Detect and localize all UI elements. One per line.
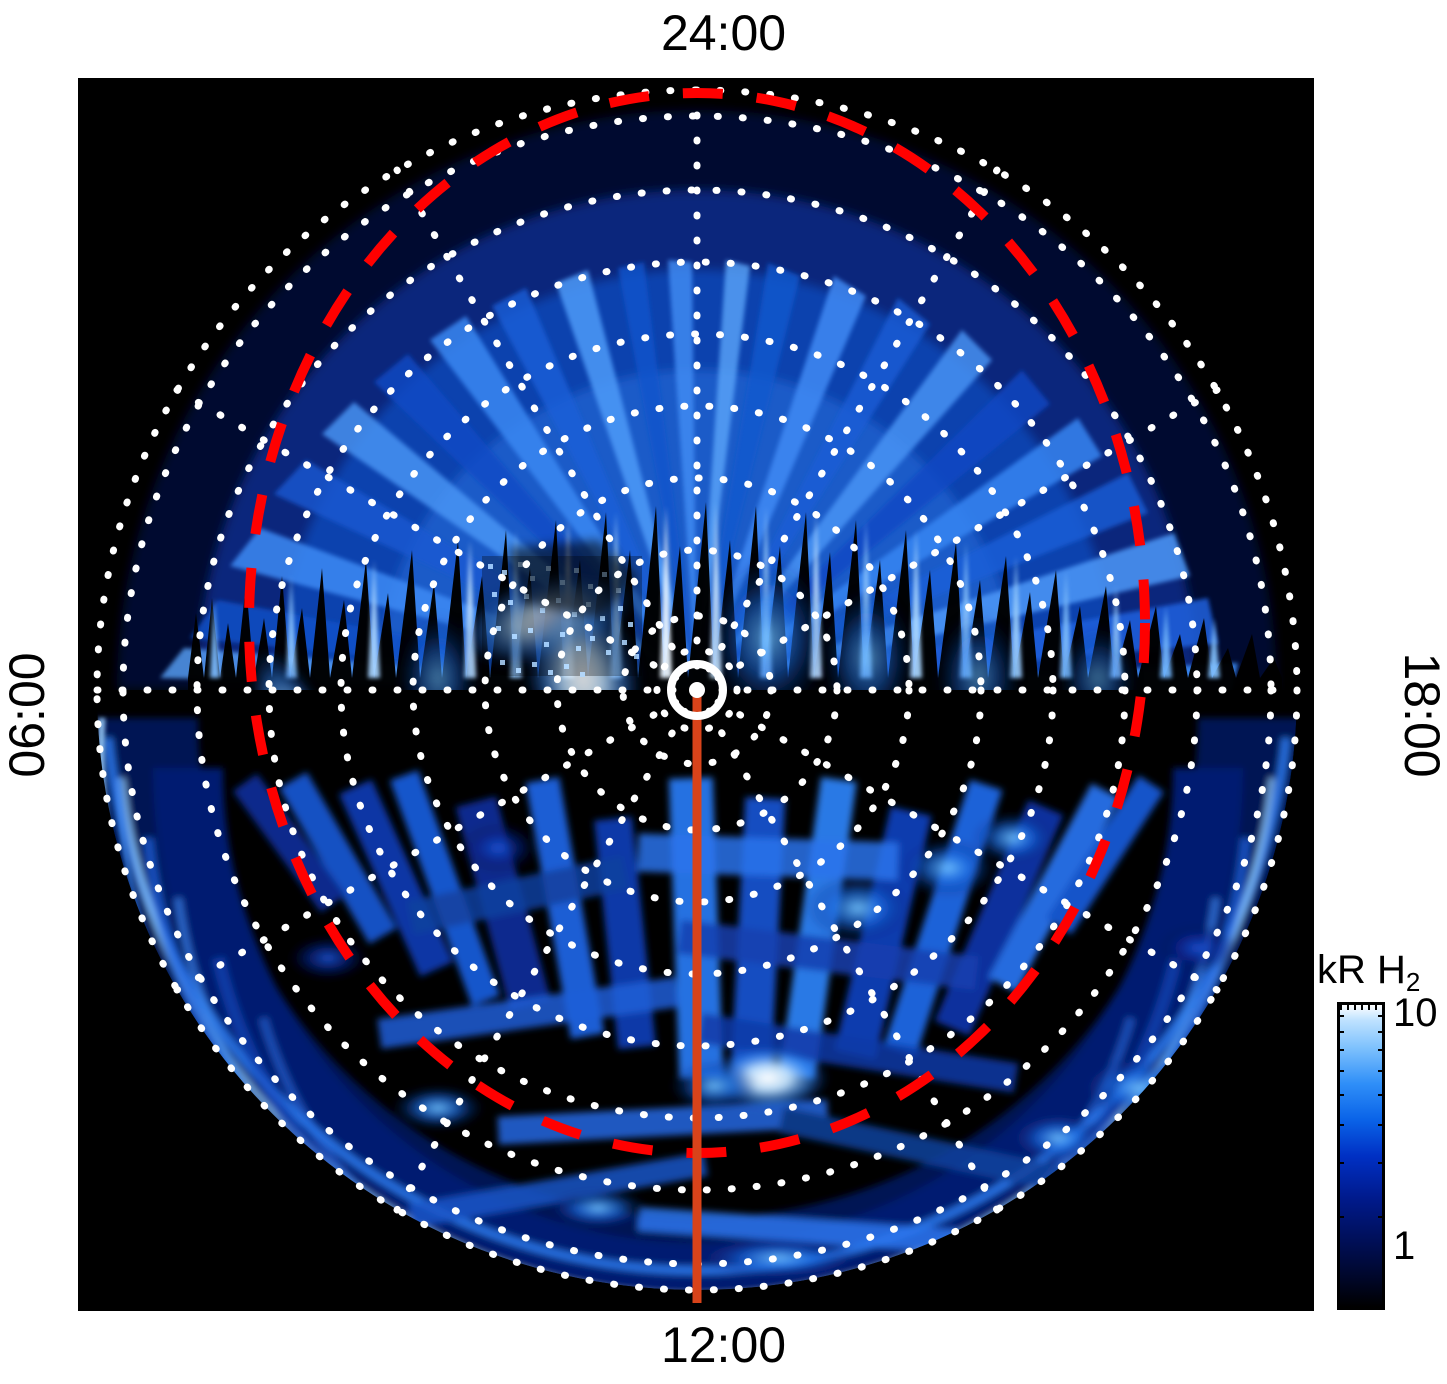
mlt-label-dawn: 06:00 — [2, 585, 52, 845]
mlt-label-dusk: 18:00 — [1397, 585, 1447, 845]
mlt-label-midnight: 24:00 — [0, 8, 1447, 58]
colorbar-title-text: kR H — [1317, 948, 1406, 992]
mlt-label-noon: 12:00 — [0, 1320, 1447, 1370]
colorbar-title: kR H2 — [1317, 948, 1420, 993]
colorbar-group: kR H2 — [1325, 948, 1447, 1316]
colorbar-max-label: 10 — [1393, 991, 1438, 1036]
colorbar-frame — [1337, 1002, 1385, 1310]
polar-plot-area — [78, 78, 1314, 1311]
colorbar-min-label: 1 — [1393, 1224, 1415, 1269]
polar-projection-svg — [78, 78, 1314, 1311]
figure-root: 24:00 12:00 06:00 18:00 — [0, 0, 1447, 1384]
colorbar-gradient — [1340, 1005, 1382, 1307]
